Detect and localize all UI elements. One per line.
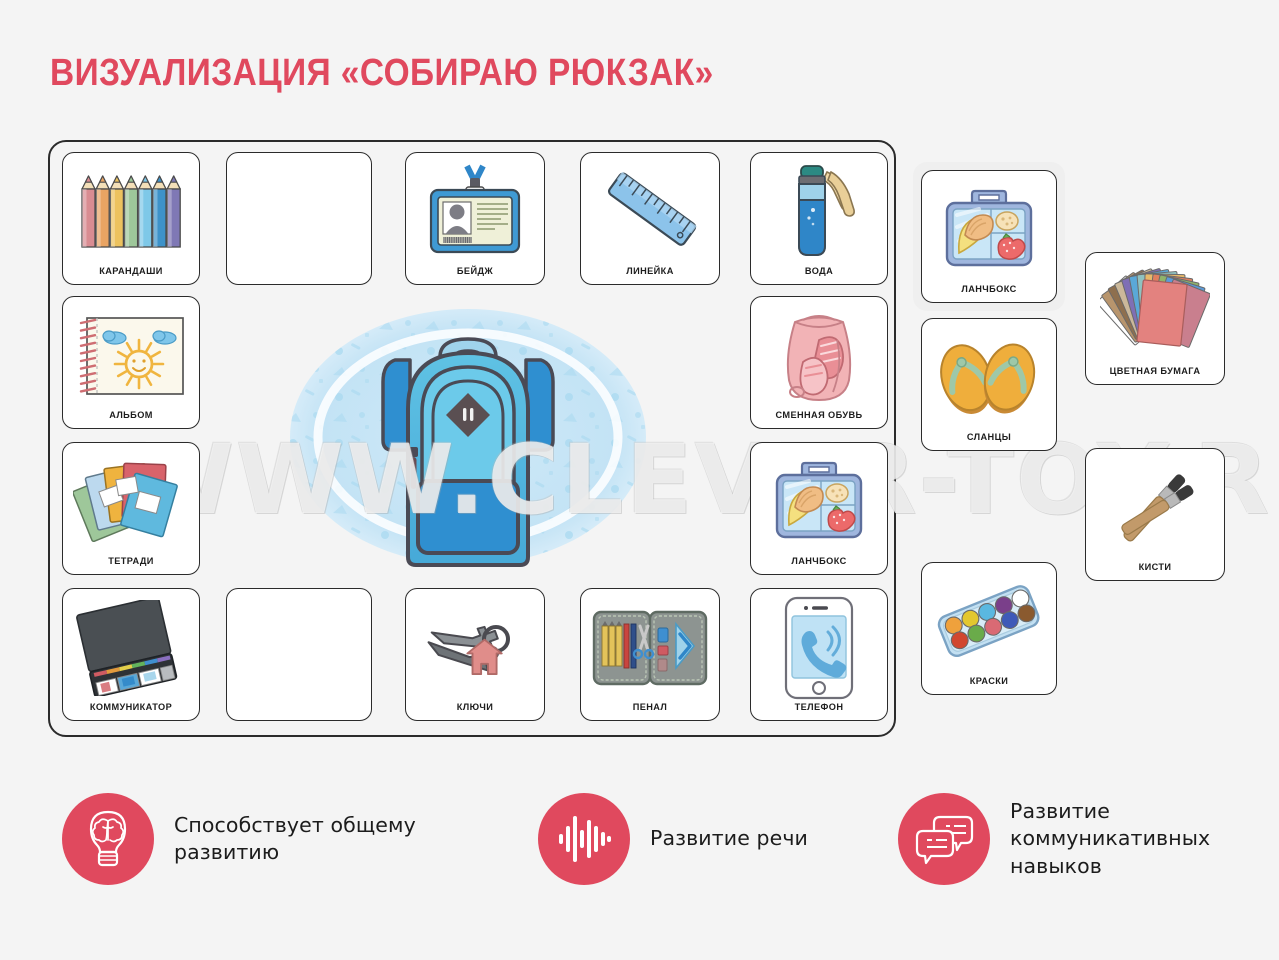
water-bottle-icon xyxy=(751,153,887,265)
card-label: СЛАНЦЫ xyxy=(922,431,1056,450)
sound-wave-icon xyxy=(538,793,630,885)
feature-label: Развитиекоммуникативныхнавыков xyxy=(1010,798,1210,879)
card-label: БЕЙДЖ xyxy=(406,265,544,284)
card-label: КОММУНИКАТОР xyxy=(63,701,199,720)
feature-speech-development: Развитие речи xyxy=(538,793,808,885)
card-label: КИСТИ xyxy=(1086,561,1224,580)
card-label: АЛЬБОМ xyxy=(63,409,199,428)
card-label: ЛАНЧБОКС xyxy=(751,555,887,574)
card-label: ПЕНАЛ xyxy=(581,701,719,720)
card-shoes[interactable]: СМЕННАЯ ОБУВЬ xyxy=(750,296,888,429)
smartphone-icon xyxy=(751,589,887,701)
card-pencilcase[interactable]: ПЕНАЛ xyxy=(580,588,720,721)
brain-bulb-icon xyxy=(62,793,154,885)
card-colorpaper[interactable]: ЦВЕТНАЯ БУМАГА xyxy=(1085,252,1225,385)
speech-bubbles-icon xyxy=(898,793,990,885)
colored-paper-icon xyxy=(1086,253,1224,365)
shoe-bag-icon xyxy=(751,297,887,409)
feature-general-development: Способствует общемуразвитию xyxy=(62,793,416,885)
backpack-illustration xyxy=(283,295,653,585)
card-label: КРАСКИ xyxy=(922,675,1056,694)
lunchbox-icon xyxy=(751,443,887,555)
card-phone[interactable]: ТЕЛЕФОН xyxy=(750,588,888,721)
card-label: ЦВЕТНАЯ БУМАГА xyxy=(1086,365,1224,384)
card-flipflops[interactable]: СЛАНЦЫ xyxy=(921,318,1057,451)
card-label: ВОДА xyxy=(751,265,887,284)
pencil-case-icon xyxy=(581,589,719,701)
lunchbox-icon xyxy=(922,171,1056,283)
colored-pencils-icon xyxy=(63,153,199,265)
feature-label: Развитие речи xyxy=(650,825,808,852)
card-label: ТЕЛЕФОН xyxy=(751,701,887,720)
card-badge[interactable]: БЕЙДЖ xyxy=(405,152,545,285)
card-water[interactable]: ВОДА xyxy=(750,152,888,285)
feature-communication-skills: Развитиекоммуникативныхнавыков xyxy=(898,793,1210,885)
card-label: ТЕТРАДИ xyxy=(63,555,199,574)
paint-palette-icon xyxy=(922,563,1056,675)
card-empty-slot[interactable] xyxy=(226,152,372,285)
card-pencils[interactable]: КАРАНДАШИ xyxy=(62,152,200,285)
card-brushes[interactable]: КИСТИ xyxy=(1085,448,1225,581)
card-communicator[interactable]: КОММУНИКАТОР xyxy=(62,588,200,721)
card-lunchbox-mid[interactable]: ЛАНЧБОКС xyxy=(750,442,888,575)
ruler-icon xyxy=(581,153,719,265)
card-label: ЛИНЕЙКА xyxy=(581,265,719,284)
card-label: СМЕННАЯ ОБУВЬ xyxy=(751,409,887,428)
card-label: КЛЮЧИ xyxy=(406,701,544,720)
notebooks-icon xyxy=(63,443,199,555)
card-label: КАРАНДАШИ xyxy=(63,265,199,284)
communicator-icon xyxy=(63,589,199,701)
card-empty-slot[interactable] xyxy=(226,588,372,721)
id-badge-icon xyxy=(406,153,544,265)
flip-flops-icon xyxy=(922,319,1056,431)
card-album[interactable]: АЛЬБОМ xyxy=(62,296,200,429)
card-ruler[interactable]: ЛИНЕЙКА xyxy=(580,152,720,285)
card-keys[interactable]: КЛЮЧИ xyxy=(405,588,545,721)
card-notebooks[interactable]: ТЕТРАДИ xyxy=(62,442,200,575)
sketch-album-icon xyxy=(63,297,199,409)
paint-brushes-icon xyxy=(1086,449,1224,561)
feature-label: Способствует общемуразвитию xyxy=(174,812,416,866)
card-label: ЛАНЧБОКС xyxy=(922,283,1056,302)
card-paints[interactable]: КРАСКИ xyxy=(921,562,1057,695)
page-title: ВИЗУАЛИЗАЦИЯ «СОБИРАЮ РЮКЗАК» xyxy=(50,52,714,95)
keys-icon xyxy=(406,589,544,701)
card-lunchbox-side[interactable]: ЛАНЧБОКС xyxy=(921,170,1057,303)
